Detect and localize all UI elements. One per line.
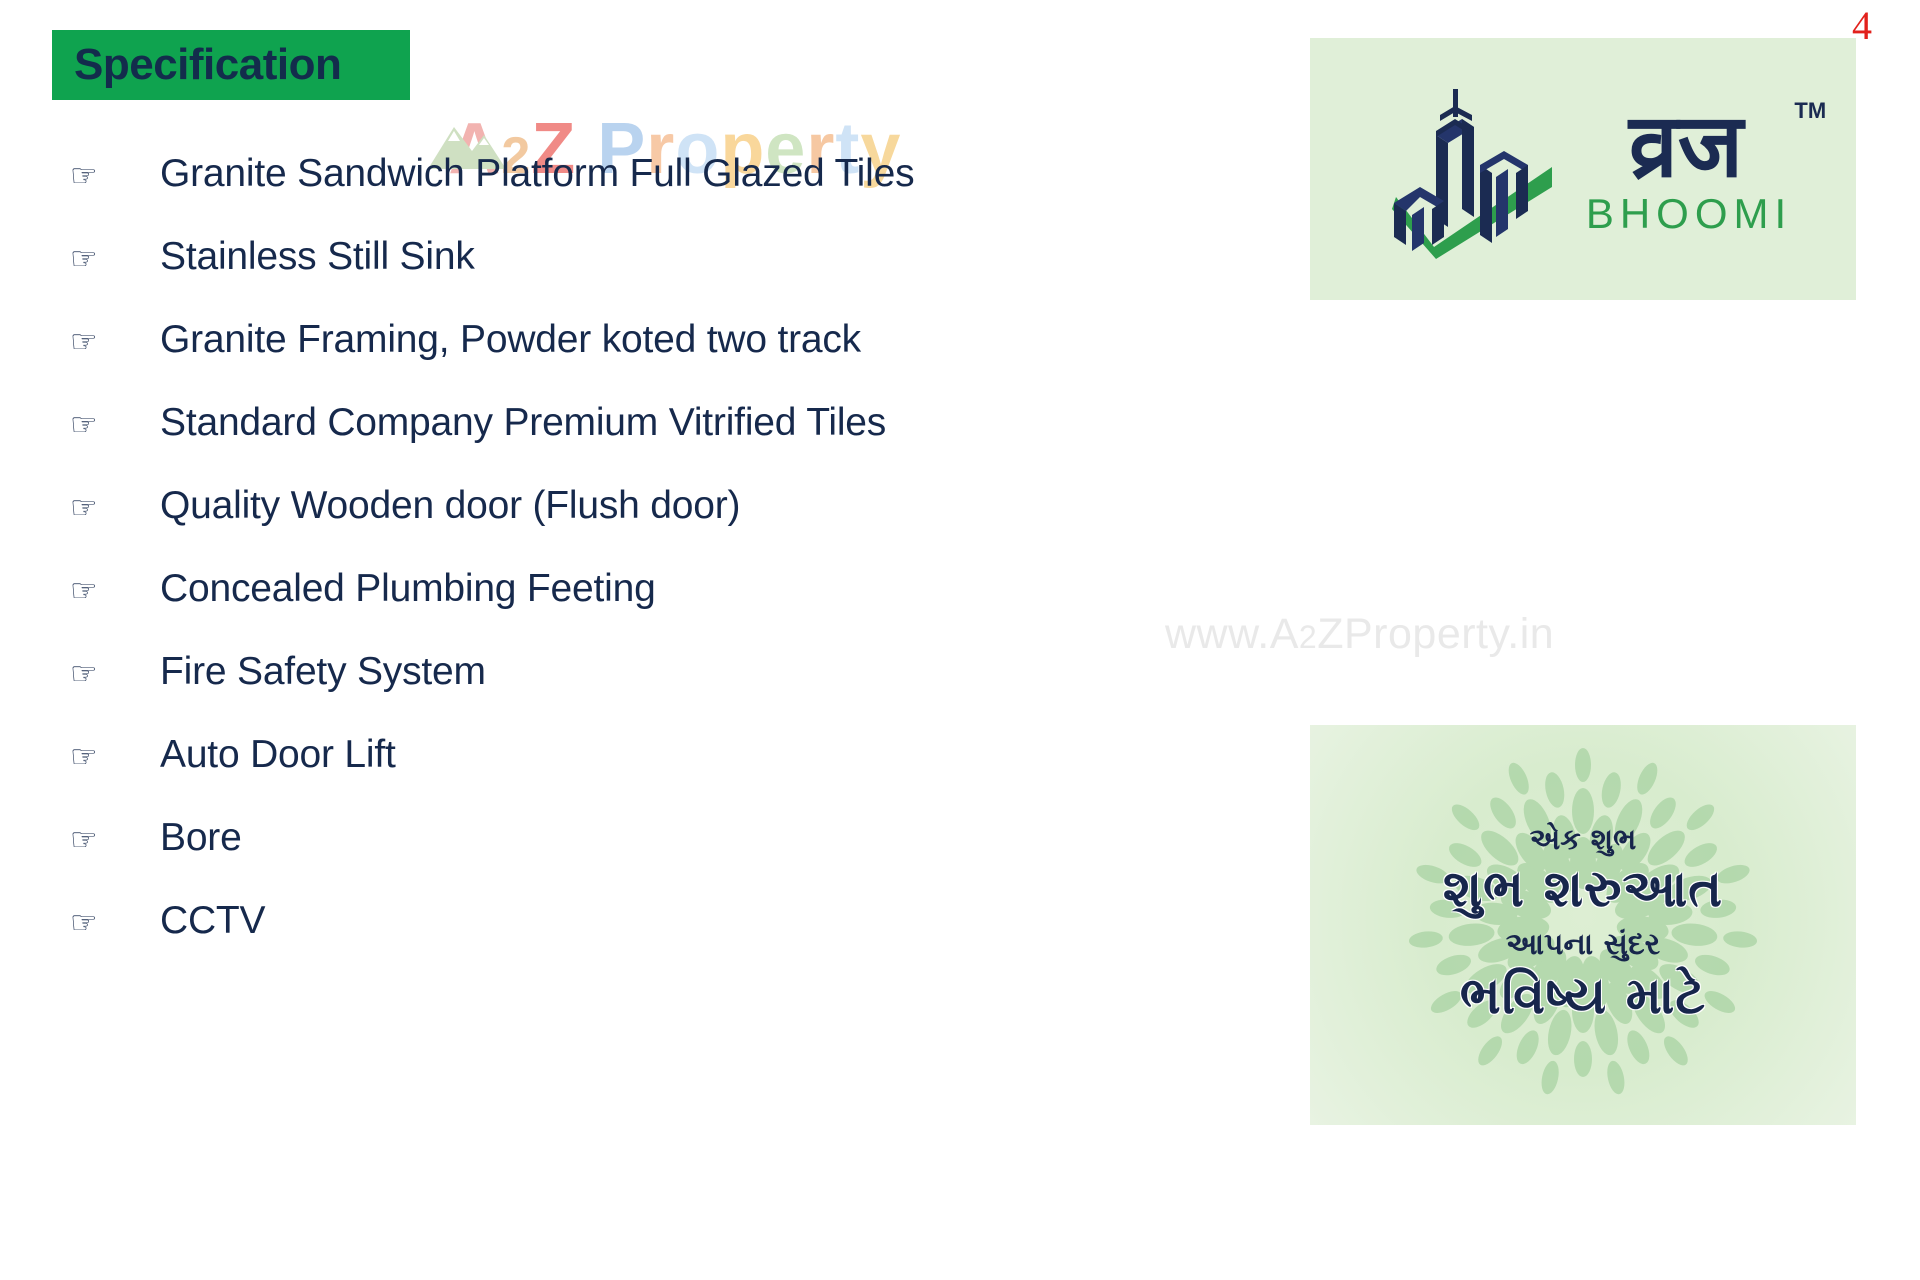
pointing-hand-icon: ☞ [60,407,160,443]
gujarati-line-2: શુભ શરુઆત [1443,859,1723,921]
trademark-icon: TM [1794,98,1826,124]
vraj-bhoomi-logo-card: व्रज TM BHOOMI [1310,38,1856,300]
pointing-hand-icon: ☞ [60,158,160,194]
list-item-label: Standard Company Premium Vitrified Tiles [160,401,886,445]
pointing-hand-icon: ☞ [60,490,160,526]
url-watermark: www.A2ZProperty.in [1165,610,1554,659]
pointing-hand-icon: ☞ [60,739,160,775]
page-title: Specification [74,40,341,90]
pointing-hand-icon: ☞ [60,241,160,277]
logo-wordmark: व्रज TM BHOOMI [1580,104,1792,238]
list-item: ☞ Stainless Still Sink [60,235,1060,318]
pointing-hand-icon: ☞ [60,656,160,692]
list-item: ☞ Bore [60,816,1060,899]
list-item-label: Auto Door Lift [160,733,396,777]
list-item: ☞ Standard Company Premium Vitrified Til… [60,401,1060,484]
pointing-hand-icon: ☞ [60,324,160,360]
slide-canvas: 4 A2Z Property Specification www.A2ZProp… [0,0,1920,1280]
list-item-label: CCTV [160,899,265,943]
gujarati-line-1: એક શુભ [1530,822,1637,857]
gujarati-banner-text: એક શુભ શુભ શરુઆત આપના સુંદર ભવિષ્ય માટે [1310,725,1856,1125]
url-watermark-suffix: ZProperty.in [1317,610,1554,658]
list-item: ☞ Fire Safety System [60,650,1060,733]
list-item-label: Bore [160,816,242,860]
list-item: ☞ Auto Door Lift [60,733,1060,816]
list-item-label: Fire Safety System [160,650,486,694]
list-item-label: Concealed Plumbing Feeting [160,567,656,611]
list-item: ☞ Granite Framing, Powder koted two trac… [60,318,1060,401]
gujarati-line-4: ભવિષ્ય માટે [1460,966,1706,1028]
url-watermark-sub: 2 [1299,619,1317,655]
specification-list: ☞ Granite Sandwich Platform Full Glazed … [60,152,1060,982]
list-item-label: Granite Framing, Powder koted two track [160,318,861,362]
logo-devanagari-name: व्रज [1629,104,1743,188]
logo-english-name: BHOOMI [1580,190,1792,238]
list-item-label: Stainless Still Sink [160,235,475,279]
pointing-hand-icon: ☞ [60,573,160,609]
list-item-label: Quality Wooden door (Flush door) [160,484,740,528]
url-watermark-prefix: www.A [1165,610,1299,658]
list-item: ☞ Granite Sandwich Platform Full Glazed … [60,152,1060,235]
list-item: ☞ Quality Wooden door (Flush door) [60,484,1060,567]
gujarati-banner-card: એક શુભ શુભ શરુઆત આપના સુંદર ભવિષ્ય માટે [1310,725,1856,1125]
list-item-label: Granite Sandwich Platform Full Glazed Ti… [160,152,914,196]
building-skyline-icon [1374,69,1574,269]
pointing-hand-icon: ☞ [60,905,160,941]
list-item: ☞ Concealed Plumbing Feeting [60,567,1060,650]
gujarati-line-3: આપના સુંદર [1506,927,1660,964]
pointing-hand-icon: ☞ [60,822,160,858]
list-item: ☞ CCTV [60,899,1060,982]
slide-title-box: Specification [52,30,410,100]
